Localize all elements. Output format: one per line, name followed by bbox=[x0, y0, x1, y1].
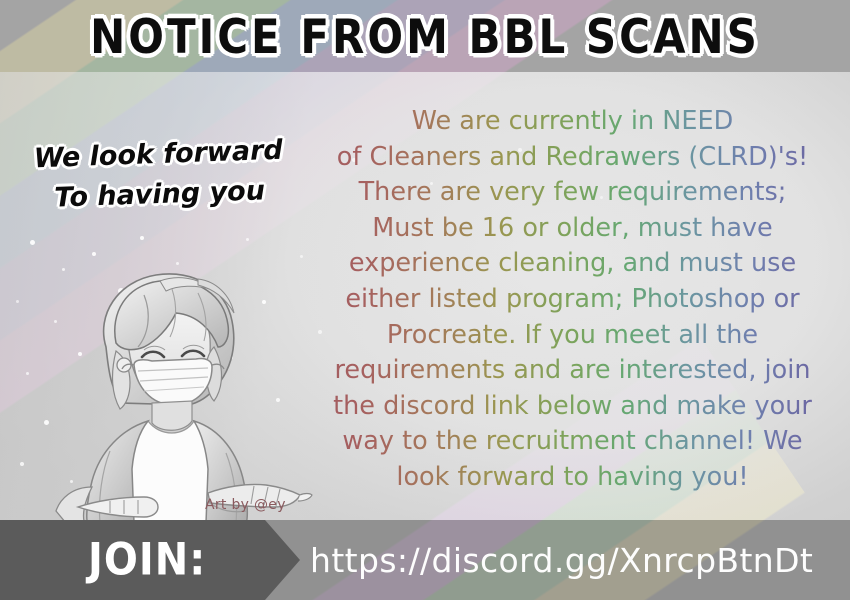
join-banner: JOIN: bbox=[0, 520, 300, 600]
discord-invite-link[interactable]: https://discord.gg/XnrcpBtnDt bbox=[310, 520, 813, 600]
header-band: NOTICE FROM BBL SCANS bbox=[0, 0, 850, 72]
character-illustration bbox=[48, 255, 313, 523]
body-line-10: way to the recruitment channel! We bbox=[310, 424, 835, 460]
page-title: NOTICE FROM BBL SCANS bbox=[0, 0, 850, 72]
body-line-1: We are currently in NEED bbox=[310, 104, 835, 140]
body-line-6: either listed program; Photoshop or bbox=[310, 282, 835, 318]
need-emphasis: NEED bbox=[662, 106, 733, 136]
body-line-8: requirements and are interested, join bbox=[310, 353, 835, 389]
footer-band: JOIN: https://discord.gg/XnrcpBtnDt bbox=[0, 520, 850, 600]
notice-poster: NOTICE FROM BBL SCANS We look forward To… bbox=[0, 0, 850, 600]
body-line-4: Must be 16 or older, must have bbox=[310, 211, 835, 247]
join-label: JOIN: bbox=[88, 534, 206, 586]
notice-body: We are currently in NEED of Cleaners and… bbox=[310, 104, 835, 496]
body-line-5: experience cleaning, and must use bbox=[310, 246, 835, 282]
tagline-line-1: We look forward bbox=[33, 135, 283, 175]
must-be-emphasis: Must be bbox=[372, 213, 473, 243]
body-line-11: look forward to having you! bbox=[310, 460, 835, 496]
body-line-7: Procreate. If you meet all the bbox=[310, 318, 835, 354]
body-line-3: There are very few requirements; bbox=[310, 175, 835, 211]
tagline: We look forward To having you bbox=[27, 131, 292, 218]
body-line-9: the discord link below and make your bbox=[310, 389, 835, 425]
body-line-2: of Cleaners and Redrawers (CLRD)'s! bbox=[310, 140, 835, 176]
art-credit: Art by @ey bbox=[205, 497, 286, 513]
